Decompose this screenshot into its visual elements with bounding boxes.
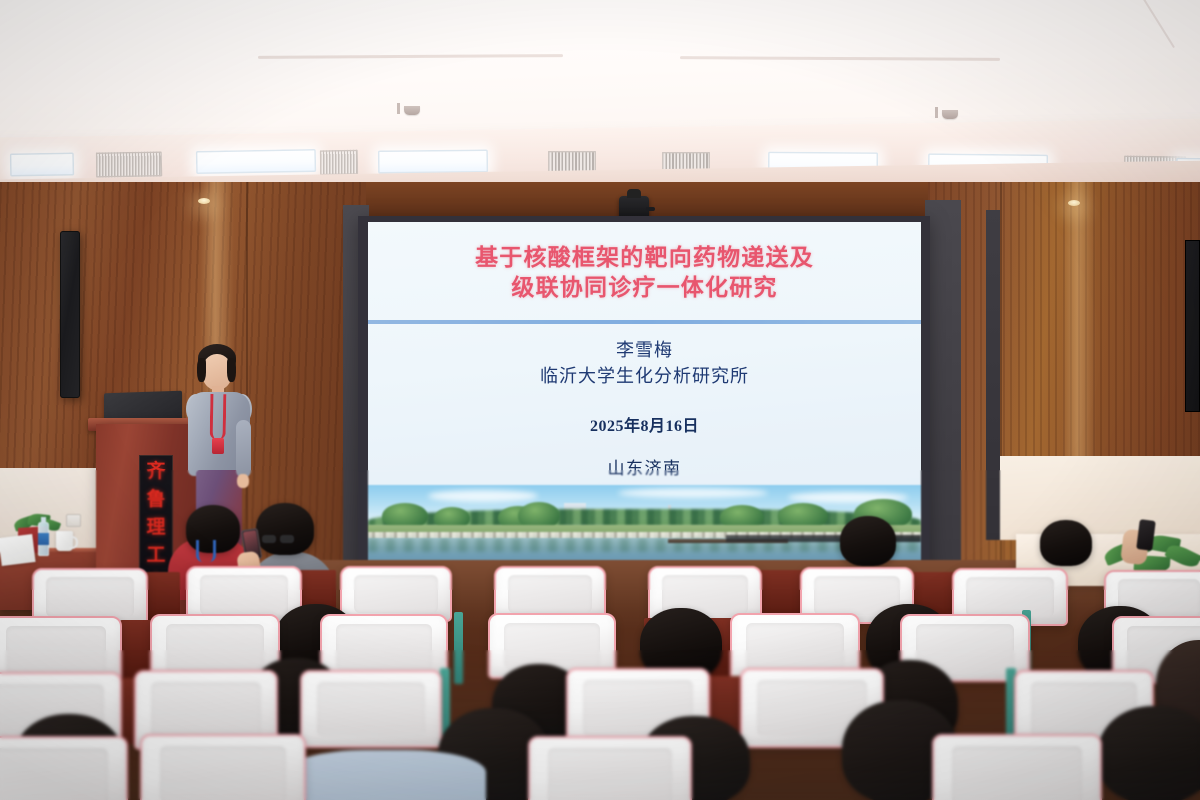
attendee-lanyard — [196, 540, 216, 562]
slide-landscape-photo — [368, 485, 921, 570]
attendee-head — [1098, 706, 1200, 800]
name-card-white — [0, 534, 36, 566]
slide-title: 基于核酸框架的靶向药物递送及 级联协同诊疗一体化研究 — [368, 243, 921, 303]
presenter-hair-side — [197, 358, 206, 382]
slide-title-line-1: 基于核酸框架的靶向药物递送及 — [368, 243, 921, 273]
presenter-badge — [212, 438, 224, 454]
seat-rail — [454, 612, 463, 684]
slide-presenter-name: 李雪梅 — [368, 337, 921, 363]
plaque-char-3: 理 — [146, 518, 165, 537]
presentation-slide: 基于核酸框架的靶向药物递送及 级联协同诊疗一体化研究 李雪梅 临沂大学生化分析研… — [368, 222, 921, 570]
lecture-hall-scene: 基于核酸框架的靶向药物递送及 级联协同诊疗一体化研究 李雪梅 临沂大学生化分析研… — [0, 0, 1200, 800]
plaque-char-4: 工 — [146, 546, 165, 565]
presenter-lanyard — [210, 394, 227, 440]
plaque-char-1: 齐 — [146, 462, 165, 481]
auditorium-seat[interactable] — [932, 734, 1102, 800]
bottle-label — [38, 533, 49, 545]
presenter-hand — [237, 474, 249, 488]
slide-location: 山东济南 — [368, 454, 921, 479]
coffee-mug — [56, 531, 73, 551]
eyeglasses-icon — [262, 535, 296, 543]
auditorium-seat[interactable] — [140, 734, 306, 800]
wall-outlet-icon — [66, 514, 81, 527]
column-speaker-left-icon — [60, 231, 80, 398]
smoke-detector-icon — [404, 106, 420, 115]
wall-downlight — [198, 198, 210, 204]
lower-wall-right — [1000, 456, 1200, 540]
attendee-shoulders — [286, 750, 486, 800]
glasses-lens — [262, 535, 276, 543]
acoustic-panel-far-right — [986, 210, 1000, 540]
slide-divider-rule — [368, 320, 921, 324]
glasses-lens — [280, 535, 294, 543]
slide-subtitle-block: 李雪梅 临沂大学生化分析研究所 — [368, 337, 921, 389]
attendee-head — [1040, 520, 1092, 566]
column-speaker-right-icon — [1185, 240, 1200, 412]
ceiling-air-vent — [320, 150, 358, 176]
attendee-head — [840, 516, 896, 566]
acoustic-panel-right — [925, 200, 961, 595]
ceiling-air-vent — [96, 151, 162, 177]
auditorium-seat[interactable] — [300, 670, 442, 748]
presenter-hair-side — [227, 358, 236, 382]
ceiling-panel-light — [378, 149, 488, 173]
slide-affiliation: 临沂大学生化分析研究所 — [368, 363, 921, 389]
slide-date: 2025年8月16日 — [368, 412, 921, 436]
wall-downlight — [1068, 200, 1080, 206]
slide-title-line-2: 级联协同诊疗一体化研究 — [368, 273, 921, 303]
ceiling-panel-light — [196, 149, 316, 174]
smoke-detector-icon — [942, 110, 958, 119]
auditorium-seat[interactable] — [528, 736, 692, 800]
photo-cloud — [428, 490, 538, 502]
attendee-head — [256, 503, 314, 555]
ceiling-panel-light — [10, 152, 74, 176]
presenter-arm — [236, 420, 251, 478]
auditorium-seat[interactable] — [0, 736, 128, 800]
water-bottle-left — [38, 522, 49, 556]
plaque-char-2: 鲁 — [146, 490, 165, 509]
photo-cloud — [618, 488, 768, 498]
